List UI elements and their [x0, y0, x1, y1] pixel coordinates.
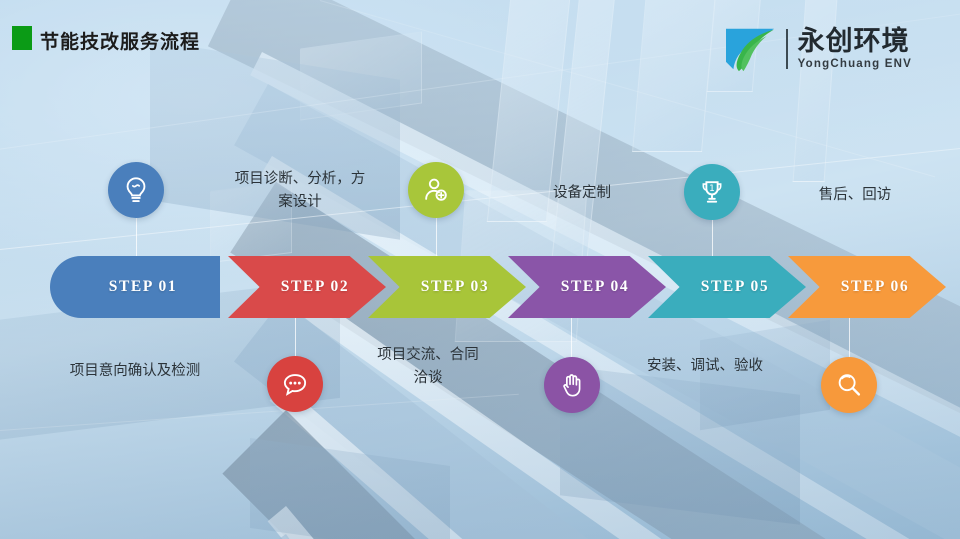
step-label-06: STEP 06 — [841, 278, 910, 296]
caption-step-05: 安装、调试、验收 — [620, 355, 790, 378]
add-user-icon — [421, 175, 451, 205]
caption-step-06: 售后、回访 — [790, 184, 920, 207]
hand-icon — [557, 370, 587, 400]
step-chip-04[interactable]: STEP 04 — [508, 256, 666, 318]
page-title: 节能技改服务流程 — [40, 27, 200, 54]
stem-step-04 — [571, 316, 572, 360]
stem-step-06 — [849, 316, 850, 360]
icon-circle-step-02[interactable] — [267, 356, 323, 412]
magnifier-icon — [834, 370, 864, 400]
step-chip-02[interactable]: STEP 02 — [228, 256, 386, 318]
speech-bubble-icon — [280, 369, 310, 399]
step-label-04: STEP 04 — [561, 278, 630, 296]
step-label-03: STEP 03 — [421, 278, 490, 296]
company-logo: 永创环境 YongChuang ENV — [722, 22, 912, 76]
svg-text:1: 1 — [709, 184, 715, 194]
step-label-02: STEP 02 — [281, 278, 350, 296]
logo-name-cn: 永创环境 — [798, 28, 912, 55]
step-chip-05[interactable]: STEP 05 — [648, 256, 806, 318]
icon-circle-step-05[interactable]: 1 — [684, 164, 740, 220]
slide-canvas: 节能技改服务流程 永创环境 YongChuang ENV STEP 01 STE… — [0, 0, 960, 539]
title-marker — [12, 26, 32, 50]
caption-step-02: 项目诊断、分析，方 案设计 — [200, 168, 400, 214]
logo-mark-icon — [722, 25, 778, 73]
step-chip-03[interactable]: STEP 03 — [368, 256, 526, 318]
caption-step-01: 项目意向确认及检测 — [30, 360, 240, 383]
logo-name-en: YongChuang ENV — [798, 59, 912, 71]
stem-step-01 — [136, 216, 137, 260]
stem-step-05 — [712, 218, 713, 260]
trophy-icon: 1 — [697, 177, 727, 207]
step-chip-06[interactable]: STEP 06 — [788, 256, 946, 318]
step-chip-01[interactable]: STEP 01 — [50, 256, 220, 318]
icon-circle-step-01[interactable] — [108, 162, 164, 218]
caption-step-03: 项目交流、合同 洽谈 — [348, 344, 508, 390]
icon-circle-step-06[interactable] — [821, 357, 877, 413]
stem-step-02 — [295, 316, 296, 360]
icon-circle-step-03[interactable] — [408, 162, 464, 218]
step-label-01: STEP 01 — [109, 278, 178, 296]
step-label-05: STEP 05 — [701, 278, 770, 296]
stem-step-03 — [436, 216, 437, 260]
lightbulb-icon — [121, 175, 151, 205]
logo-divider — [786, 29, 788, 69]
icon-circle-step-04[interactable] — [544, 357, 600, 413]
process-step-bar: STEP 01 STEP 02 STEP 03 STEP 04 STEP 05 … — [0, 256, 960, 320]
caption-step-04: 设备定制 — [512, 182, 652, 205]
